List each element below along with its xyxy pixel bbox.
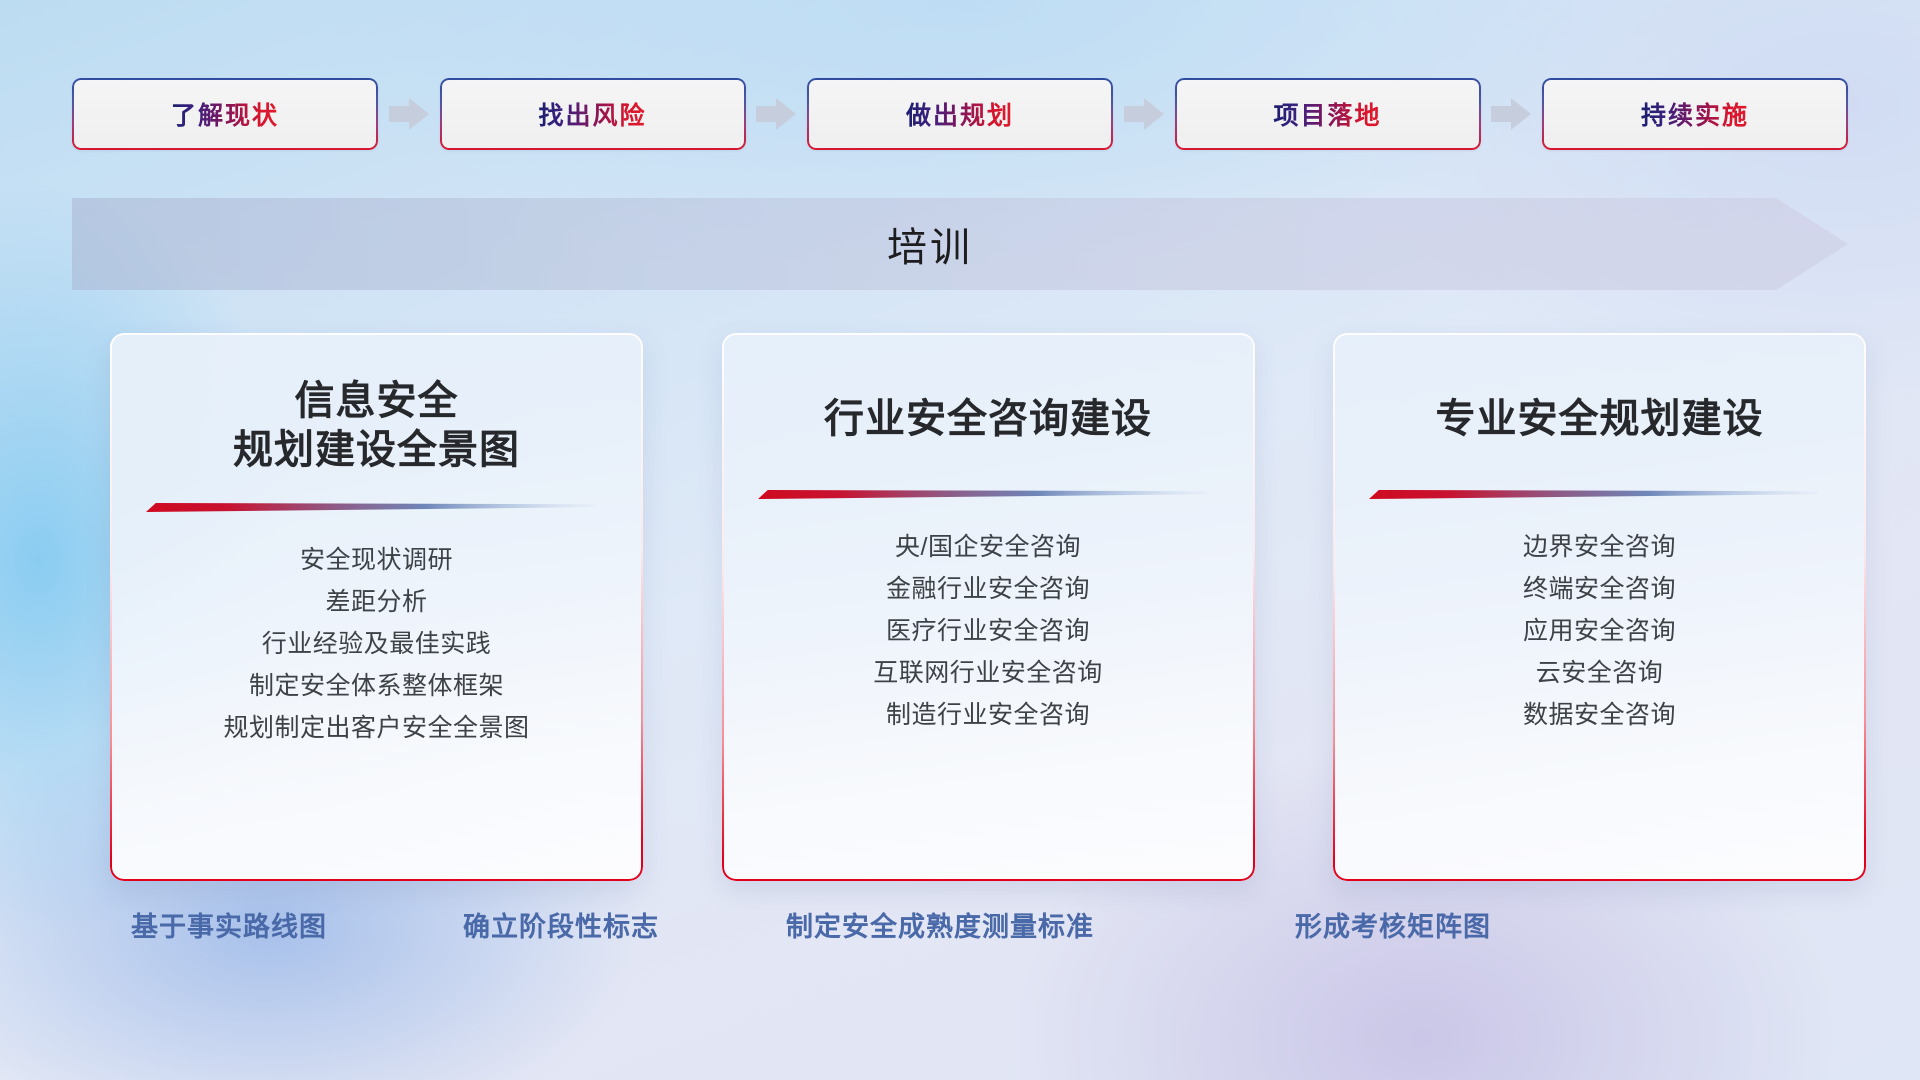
list-item: 终端安全咨询 bbox=[1333, 568, 1866, 610]
capability-card-1[interactable]: 信息安全 规划建设全景图 bbox=[110, 333, 643, 881]
capability-card-2-list: 央/国企安全咨询 金融行业安全咨询 医疗行业安全咨询 互联网行业安全咨询 制造行… bbox=[722, 526, 1255, 736]
process-step-row: 了解现状 找出风险 做出规划 项目落地 bbox=[72, 78, 1848, 150]
process-step-5[interactable]: 持续实施 bbox=[1542, 78, 1848, 150]
capability-card-row: 信息安全 规划建设全景图 bbox=[110, 333, 1866, 881]
capability-card-1-title-line-1: 信息安全 bbox=[110, 377, 643, 426]
capability-card-1-title-line-2: 规划建设全景图 bbox=[110, 426, 643, 475]
chevron-right-arrow-icon bbox=[1124, 97, 1164, 131]
list-item: 制定安全体系整体框架 bbox=[110, 665, 643, 707]
slide-stage: 了解现状 找出风险 做出规划 项目落地 bbox=[0, 0, 1920, 1080]
list-item: 行业经验及最佳实践 bbox=[110, 623, 643, 665]
process-step-3[interactable]: 做出规划 bbox=[807, 78, 1113, 150]
card-divider-icon bbox=[758, 488, 1207, 500]
process-step-3-label: 做出规划 bbox=[906, 96, 1014, 132]
footnote-label-2: 确立阶段性标志 bbox=[463, 905, 659, 944]
list-item: 制造行业安全咨询 bbox=[722, 694, 1255, 736]
capability-card-2[interactable]: 行业安全咨询建设 bbox=[722, 333, 1255, 881]
list-item: 应用安全咨询 bbox=[1333, 610, 1866, 652]
chevron-right-arrow-icon bbox=[1491, 97, 1531, 131]
footnote-label-4: 形成考核矩阵图 bbox=[1295, 905, 1491, 944]
list-item: 差距分析 bbox=[110, 581, 643, 623]
footnote-row: 基于事实路线图 确立阶段性标志 制定安全成熟度测量标准 形成考核矩阵图 bbox=[0, 905, 1920, 957]
capability-card-3[interactable]: 专业安全规划建设 bbox=[1333, 333, 1866, 881]
capability-card-1-list: 安全现状调研 差距分析 行业经验及最佳实践 制定安全体系整体框架 规划制定出客户… bbox=[110, 539, 643, 749]
capability-card-1-title: 信息安全 规划建设全景图 bbox=[110, 333, 643, 475]
capability-card-3-title-line-1: 专业安全规划建设 bbox=[1333, 395, 1866, 444]
card-divider-icon bbox=[146, 501, 595, 513]
list-item: 医疗行业安全咨询 bbox=[722, 610, 1255, 652]
capability-card-3-list: 边界安全咨询 终端安全咨询 应用安全咨询 云安全咨询 数据安全咨询 bbox=[1333, 526, 1866, 736]
card-divider-icon bbox=[1369, 488, 1818, 500]
list-item: 云安全咨询 bbox=[1333, 652, 1866, 694]
process-step-2[interactable]: 找出风险 bbox=[440, 78, 746, 150]
list-item: 央/国企安全咨询 bbox=[722, 526, 1255, 568]
list-item: 边界安全咨询 bbox=[1333, 526, 1866, 568]
process-step-1[interactable]: 了解现状 bbox=[72, 78, 378, 150]
capability-card-2-title: 行业安全咨询建设 bbox=[722, 333, 1255, 444]
list-item: 安全现状调研 bbox=[110, 539, 643, 581]
process-step-2-label: 找出风险 bbox=[538, 96, 646, 132]
footnote-label-1: 基于事实路线图 bbox=[131, 905, 327, 944]
process-step-1-label: 了解现状 bbox=[171, 96, 279, 132]
list-item: 数据安全咨询 bbox=[1333, 694, 1866, 736]
banner-label: 培训 bbox=[72, 198, 1848, 290]
capability-card-3-title: 专业安全规划建设 bbox=[1333, 333, 1866, 444]
list-item: 规划制定出客户安全全景图 bbox=[110, 707, 643, 749]
process-step-4-label: 项目落地 bbox=[1273, 96, 1381, 132]
list-item: 金融行业安全咨询 bbox=[722, 568, 1255, 610]
capability-card-2-title-line-1: 行业安全咨询建设 bbox=[722, 395, 1255, 444]
chevron-right-arrow-icon bbox=[389, 97, 429, 131]
process-step-5-label: 持续实施 bbox=[1641, 96, 1749, 132]
process-step-4[interactable]: 项目落地 bbox=[1175, 78, 1481, 150]
training-banner: 培训 bbox=[72, 198, 1848, 290]
list-item: 互联网行业安全咨询 bbox=[722, 652, 1255, 694]
chevron-right-arrow-icon bbox=[756, 97, 796, 131]
footnote-label-3: 制定安全成熟度测量标准 bbox=[786, 905, 1094, 944]
